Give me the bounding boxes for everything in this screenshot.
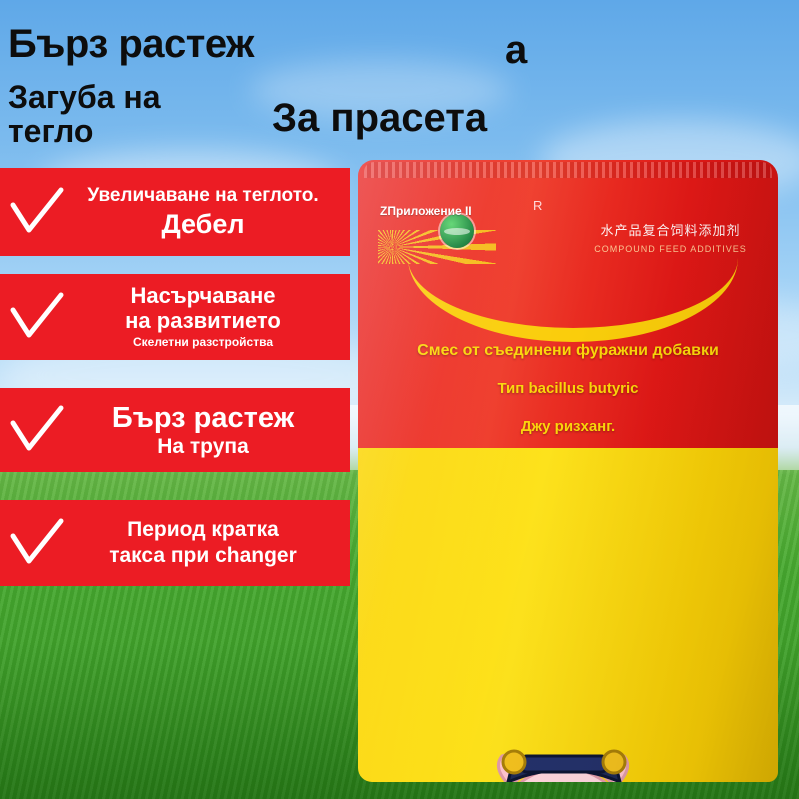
registered-trademark-icon: R <box>533 198 542 213</box>
feature-text-3: Бърз растеж На трупа <box>66 402 350 459</box>
headline-block: Бърз растеж а Загуба на тегло За прасета <box>0 0 799 160</box>
feature-3-main: Бърз растеж <box>66 402 340 434</box>
feature-text-1: Увеличаване на теглото. Дебел <box>66 185 350 239</box>
package-line-2: Тип bacillus butyric <box>358 380 778 397</box>
headline-line-3: За прасета <box>272 96 487 141</box>
package-crimp-seal <box>364 162 772 178</box>
feature-banner-4: Период кратка такса при changer <box>0 500 350 586</box>
feature-2-small: Скелетни разстройства <box>66 336 340 349</box>
brand-name: ZПриложение II <box>380 204 472 218</box>
feature-4-main: Период кратка <box>66 518 340 542</box>
feature-banner-1: Увеличаване на теглото. Дебел <box>0 168 350 256</box>
feature-text-4: Период кратка такса при changer <box>66 518 350 567</box>
feature-banner-3: Бърз растеж На трупа <box>0 388 350 472</box>
check-mark-icon <box>8 518 66 568</box>
product-package: ZПриложение II R 水产品复合饲料添加剂 COMPOUND FEE… <box>358 160 778 782</box>
brand-name-text: Приложение II <box>387 204 471 218</box>
feature-banner-2: Насърчаване на развитието Скелетни разст… <box>0 274 350 360</box>
check-mark-icon <box>8 187 66 237</box>
logo-globe-icon <box>440 214 474 248</box>
package-yellow-swoosh <box>408 258 738 342</box>
feature-2-main: Насърчаване <box>66 284 340 309</box>
feature-1-main: Увеличаване на теглото. <box>66 185 340 206</box>
headline-line-1: Бърз растеж <box>8 22 254 67</box>
headline-letter-a: а <box>505 28 527 73</box>
cartoon-pig-mascot-icon <box>398 748 738 782</box>
package-cn-title: 水产品复合饲料添加剂 <box>583 220 758 239</box>
package-top-red-panel: ZПриложение II R 水产品复合饲料添加剂 COMPOUND FEE… <box>358 160 778 448</box>
product-poster: Бърз растеж а Загуба на тегло За прасета… <box>0 0 799 799</box>
check-mark-icon <box>8 405 66 455</box>
package-cn-subtitle: COMPOUND FEED ADDITIVES <box>583 244 758 254</box>
package-bottom-yellow-panel: idef <box>358 448 778 782</box>
check-mark-icon <box>8 292 66 342</box>
headline-line-2: Загуба на тегло <box>8 80 238 148</box>
feature-3-sub: На трупа <box>66 435 340 459</box>
feature-2-sub: на развитието <box>66 309 340 334</box>
feature-4-sub: такса при changer <box>66 544 340 568</box>
package-line-1: Смес от съединени фуражни добавки <box>358 342 778 360</box>
feature-1-sub: Дебел <box>66 209 340 239</box>
feature-text-2: Насърчаване на развитието Скелетни разст… <box>66 284 350 350</box>
package-line-3: Джу ризханг. <box>358 418 778 435</box>
